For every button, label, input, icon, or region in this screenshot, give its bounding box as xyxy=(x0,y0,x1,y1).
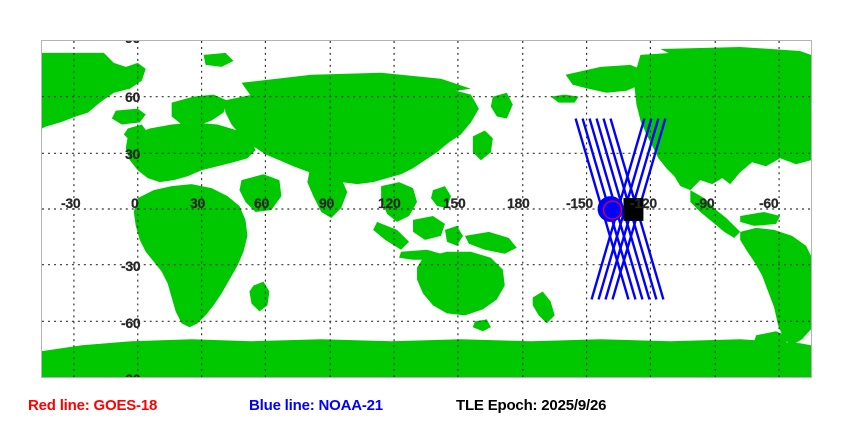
borneo xyxy=(413,216,445,240)
lat-tick--90: -90 xyxy=(121,372,140,378)
lon-tick-150: 150 xyxy=(443,196,465,210)
lon-tick--150: -150 xyxy=(566,196,593,210)
sumatra xyxy=(373,222,409,250)
lon-tick-30: 30 xyxy=(190,196,205,210)
south-america xyxy=(740,228,811,345)
tasmania xyxy=(473,319,491,331)
lon-tick-60: 60 xyxy=(254,196,269,210)
sulawesi xyxy=(445,226,463,246)
lat-tick--30: -30 xyxy=(121,259,140,273)
legend-tle-epoch: TLE Epoch: 2025/9/26 xyxy=(456,398,606,413)
lat-tick-30: 30 xyxy=(125,147,140,161)
lon-tick-120: 120 xyxy=(378,196,400,210)
new-guinea xyxy=(465,232,517,254)
alaska xyxy=(566,65,645,93)
asia xyxy=(224,83,479,184)
world-map-panel: -30 0 30 60 90 120 150 180 -150 -120 -90… xyxy=(41,40,812,378)
svalbard xyxy=(204,53,234,67)
japan xyxy=(473,130,493,160)
caribbean xyxy=(740,212,780,226)
lat-tick--60: -60 xyxy=(121,316,140,330)
legend-noaa21: Blue line: NOAA-21 xyxy=(249,398,383,413)
lon-tick-0: 0 xyxy=(131,196,139,210)
satellite-tracking-map: -30 0 30 60 90 120 150 180 -150 -120 -90… xyxy=(0,0,850,425)
madagascar xyxy=(249,282,269,312)
australia xyxy=(417,252,505,316)
iceland xyxy=(112,109,146,125)
north-america xyxy=(634,51,811,190)
lon-tick-90: 90 xyxy=(319,196,334,210)
lat-tick-90: 90 xyxy=(125,40,140,45)
lon-tick--30: -30 xyxy=(61,196,80,210)
new-zealand xyxy=(533,292,555,324)
legend-bar: Red line: GOES-18 Blue line: NOAA-21 TLE… xyxy=(0,394,850,420)
scandinavia xyxy=(172,95,228,127)
lon-tick--120: -120 xyxy=(630,196,657,210)
antarctica xyxy=(42,339,811,377)
legend-goes18: Red line: GOES-18 xyxy=(28,398,157,413)
aleutians xyxy=(551,95,579,103)
lon-tick--90: -90 xyxy=(695,196,714,210)
lon-tick-180: 180 xyxy=(507,196,529,210)
lat-tick-60: 60 xyxy=(125,90,140,104)
lon-tick--60: -60 xyxy=(759,196,778,210)
